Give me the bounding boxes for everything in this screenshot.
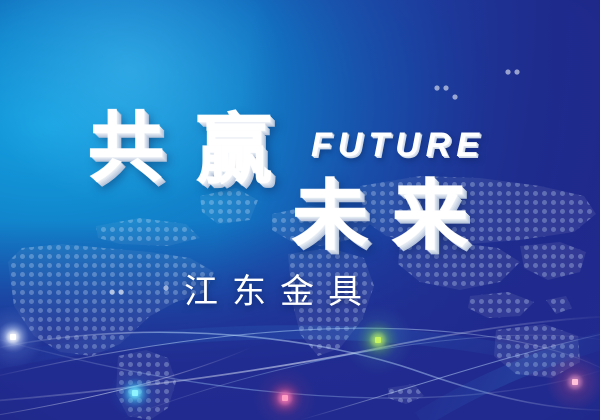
headline-char-wei: 未 xyxy=(292,178,368,254)
promo-banner: 共 赢 FUTURE 未 来 江东金具 xyxy=(0,0,600,420)
headline-future-word: FUTURE xyxy=(311,128,485,162)
headline-char-gong: 共 xyxy=(88,110,164,186)
headline-char-ying: 赢 xyxy=(196,112,272,188)
headline-group: 共 赢 FUTURE 未 来 xyxy=(0,0,600,420)
headline-char-lai: 来 xyxy=(392,178,468,254)
company-name-subtitle: 江东金具 xyxy=(184,272,376,312)
